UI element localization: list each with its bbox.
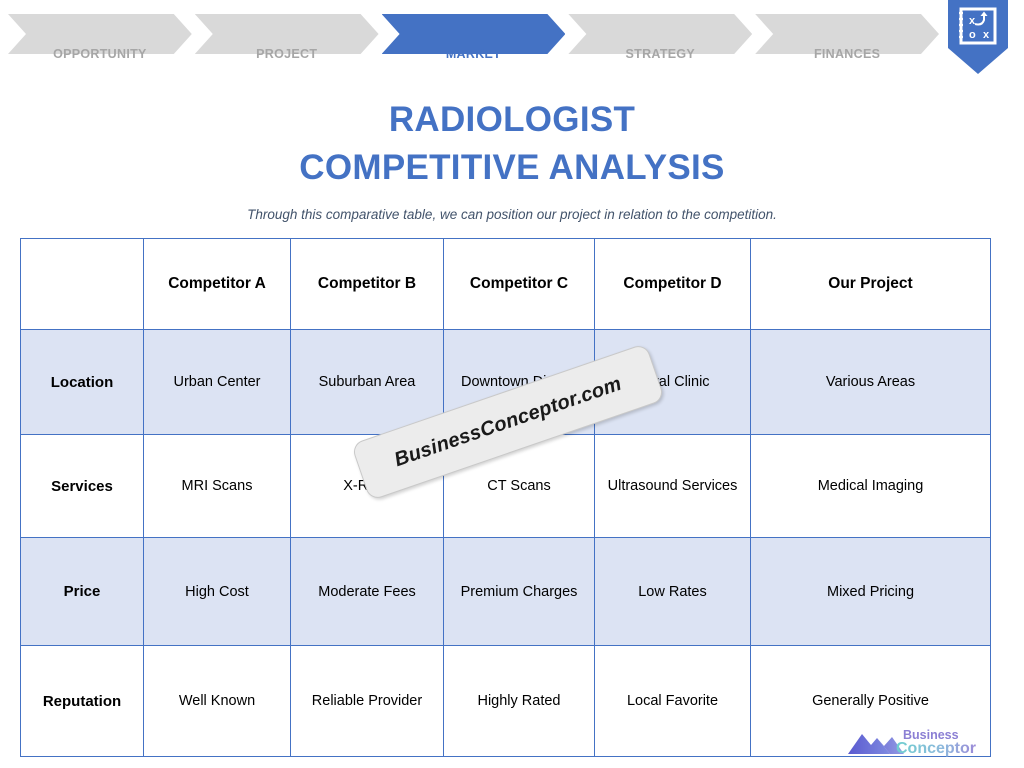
stage-label-market[interactable]: MARKET [382, 0, 566, 80]
table-corner-cell [21, 239, 144, 330]
table-cell-services-our-project: Medical Imaging [751, 435, 991, 538]
page-title-block: RADIOLOGIST COMPETITIVE ANALYSIS Through… [0, 96, 1024, 222]
table-cell-price-competitor-b: Moderate Fees [291, 538, 444, 646]
svg-text:x: x [983, 29, 990, 41]
table-column-header-competitor-c: Competitor C [444, 239, 595, 330]
table-column-header-competitor-d: Competitor D [595, 239, 751, 330]
table-cell-location-competitor-c: Downtown District [444, 330, 595, 435]
table-row: Location Urban Center Suburban Area Down… [21, 330, 991, 435]
table-header-row: Competitor A Competitor B Competitor C C… [21, 239, 991, 330]
table-cell-services-competitor-d: Ultrasound Services [595, 435, 751, 538]
table-cell-reputation-competitor-a: Well Known [144, 646, 291, 757]
table-row: Reputation Well Known Reliable Provider … [21, 646, 991, 757]
table-column-header-competitor-b: Competitor B [291, 239, 444, 330]
table-body: Location Urban Center Suburban Area Down… [21, 330, 991, 757]
page-title-line1: RADIOLOGIST [0, 96, 1024, 144]
table-row-label-reputation: Reputation [21, 646, 144, 757]
table-cell-price-our-project: Mixed Pricing [751, 538, 991, 646]
stage-label-opportunity[interactable]: OPPORTUNITY [8, 0, 192, 80]
table-cell-reputation-competitor-b: Reliable Provider [291, 646, 444, 757]
table-column-header-our-project: Our Project [751, 239, 991, 330]
business-conceptor-logo: Business Conceptor [846, 724, 996, 762]
table-cell-price-competitor-d: Low Rates [595, 538, 751, 646]
table-cell-location-competitor-a: Urban Center [144, 330, 291, 435]
table-cell-price-competitor-c: Premium Charges [444, 538, 595, 646]
table-row-label-location: Location [21, 330, 144, 435]
competitive-analysis-table: Competitor A Competitor B Competitor C C… [20, 238, 991, 757]
table-cell-services-competitor-b: X-Rays [291, 435, 444, 538]
svg-text:x: x [969, 15, 976, 27]
table-cell-services-competitor-a: MRI Scans [144, 435, 291, 538]
logo-brand-line2: Conceptor [896, 740, 976, 757]
strategy-playbook-icon: x o x [946, 0, 1010, 78]
page-title-line2: COMPETITIVE ANALYSIS [0, 144, 1024, 192]
page-subtitle: Through this comparative table, we can p… [0, 207, 1024, 222]
table-cell-location-competitor-d: Rural Clinic [595, 330, 751, 435]
stage-label-strategy[interactable]: STRATEGY [568, 0, 752, 80]
table-cell-reputation-competitor-d: Local Favorite [595, 646, 751, 757]
table-cell-reputation-competitor-c: Highly Rated [444, 646, 595, 757]
table-row-label-price: Price [21, 538, 144, 646]
stage-navigation: OPPORTUNITY PROJECT MARKET STRATEGY FINA… [0, 0, 1024, 80]
table-header: Competitor A Competitor B Competitor C C… [21, 239, 991, 330]
table-row: Price High Cost Moderate Fees Premium Ch… [21, 538, 991, 646]
stage-label-row: OPPORTUNITY PROJECT MARKET STRATEGY FINA… [8, 0, 942, 80]
table-cell-location-competitor-b: Suburban Area [291, 330, 444, 435]
table-cell-location-our-project: Various Areas [751, 330, 991, 435]
svg-text:o: o [969, 29, 976, 41]
table-cell-services-competitor-c: CT Scans [444, 435, 595, 538]
stage-label-project[interactable]: PROJECT [195, 0, 379, 80]
table-row-label-services: Services [21, 435, 144, 538]
table-cell-price-competitor-a: High Cost [144, 538, 291, 646]
table-row: Services MRI Scans X-Rays CT Scans Ultra… [21, 435, 991, 538]
table-column-header-competitor-a: Competitor A [144, 239, 291, 330]
stage-label-finances[interactable]: FINANCES [755, 0, 939, 80]
